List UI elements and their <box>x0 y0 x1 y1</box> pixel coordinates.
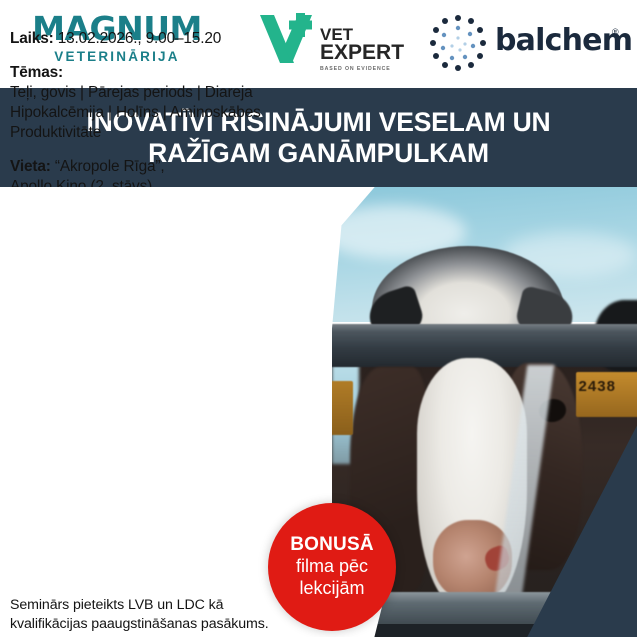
venue-line-1: “Akropole Rīga”, <box>51 158 165 175</box>
cow-ear-tag-left <box>332 381 353 435</box>
venue-label: Vieta: <box>10 158 51 175</box>
topics-line-2: Hipokalcēmija | Holīns | Aminoskābes <box>10 103 328 123</box>
topics-line-3: Produktivitāte <box>10 123 328 143</box>
seminar-poster: MAGNUM VETERINĀRIJA VET EXPERT BASED ON … <box>0 0 637 637</box>
bonus-badge: BONUSĀ filma pēc lekcijām <box>268 503 396 631</box>
topics-line-1: Teļi, govis | Pārejas periods | Diareja <box>10 83 328 103</box>
cow-ear-tag-number: 2438 <box>579 378 616 395</box>
bonus-line-1: BONUSĀ <box>290 534 374 556</box>
time-label: Laiks: <box>10 30 54 47</box>
time-block: Laiks: 13.02.2026., 9.00–15.20 <box>10 29 328 49</box>
vet-expert-tagline: BASED ON EVIDENCE <box>320 66 404 72</box>
balchem-dot-mandala-mark-icon <box>427 14 489 72</box>
balchem-trademark-symbol: ® <box>612 27 619 37</box>
bonus-line-2: filma pēc <box>296 556 368 578</box>
topics-block: Tēmas: Teļi, govis | Pārejas periods | D… <box>10 63 328 143</box>
vet-expert-text: VET EXPERT BASED ON EVIDENCE <box>320 27 404 72</box>
footnote-line-2: kvalifikācijas paaugstināšanas pasākums. <box>10 615 340 634</box>
balchem-logo: balchem ® <box>427 14 617 72</box>
cow-ear-tag-right: 2438 <box>576 372 637 417</box>
topics-label: Tēmas: <box>10 64 63 81</box>
vet-expert-line2: EXPERT <box>320 43 404 63</box>
bonus-line-3: lekcijām <box>299 578 364 600</box>
time-value: 13.02.2026., 9.00–15.20 <box>54 30 222 47</box>
